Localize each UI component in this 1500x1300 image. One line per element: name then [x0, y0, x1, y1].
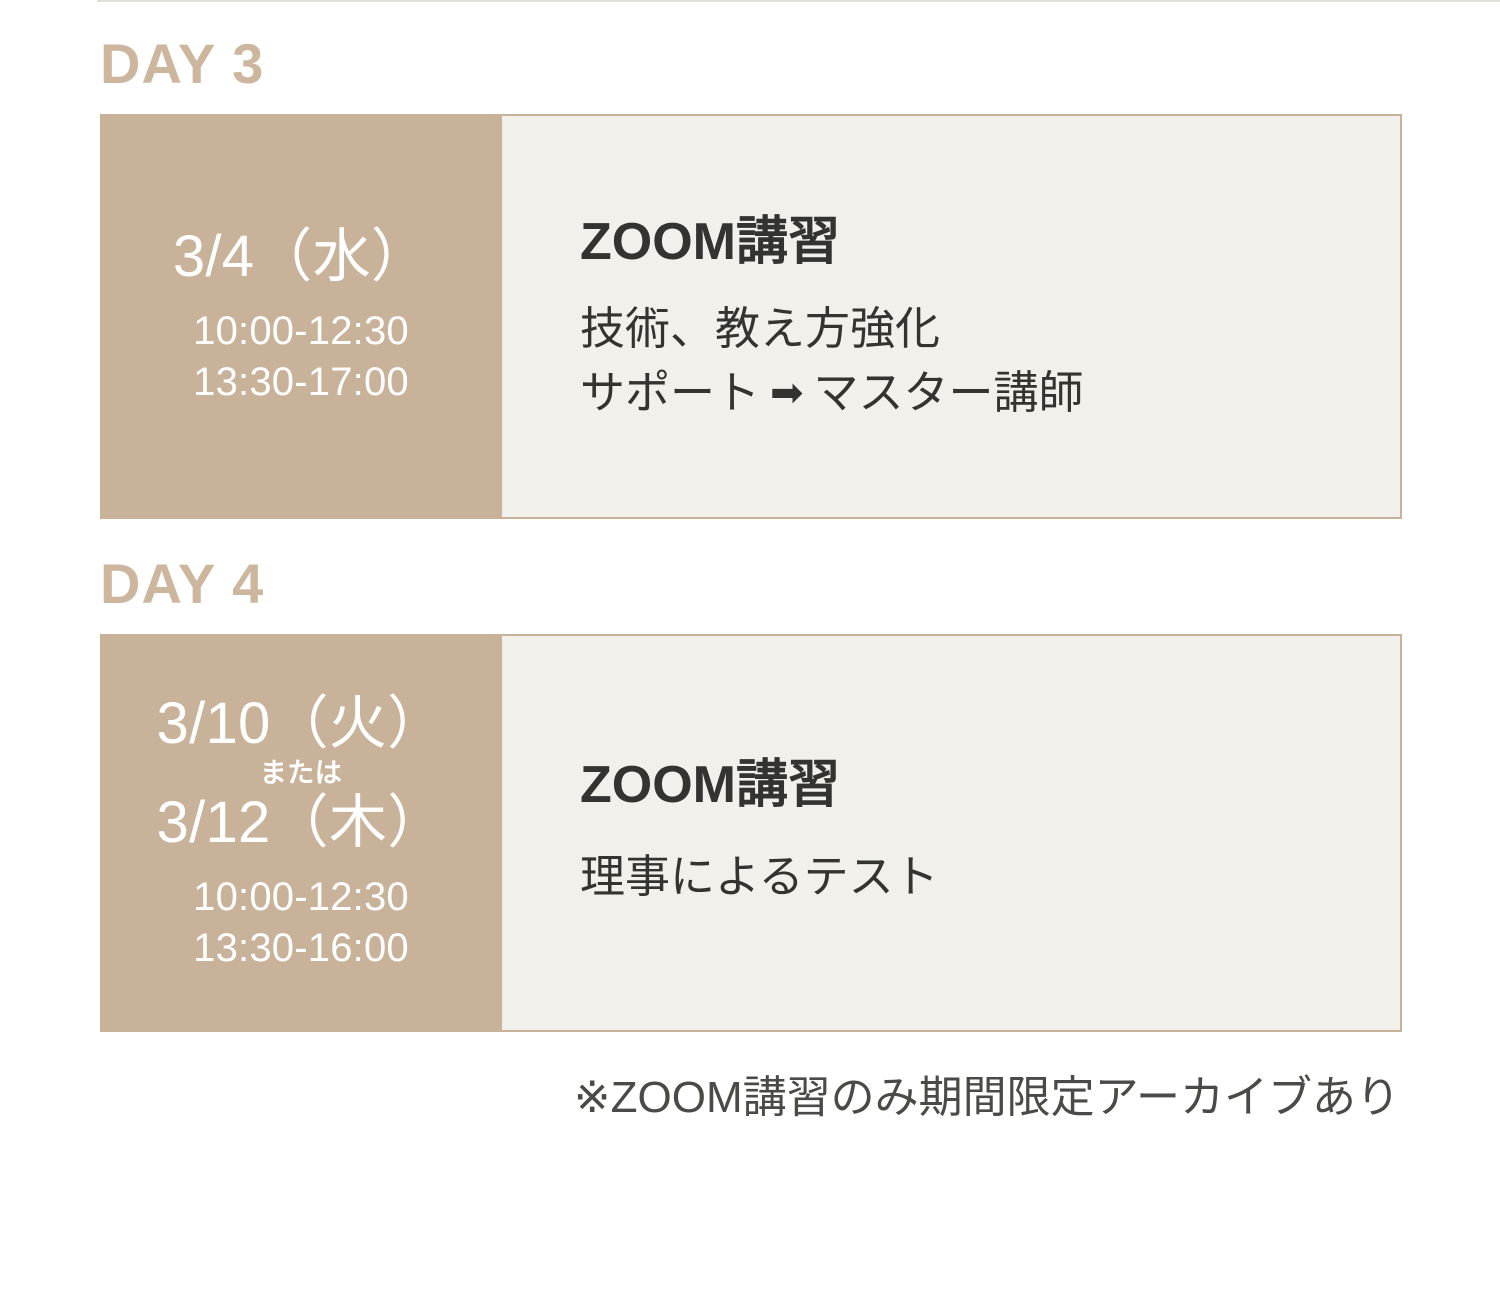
content-line-3-1: 技術、教え方強化 — [580, 297, 1400, 361]
content-line-3-2: サポート➡マスター講師 — [580, 361, 1400, 425]
content-line-3-1-text: 技術、教え方強化 — [580, 303, 940, 354]
date-time-4-1: 10:00-12:30 — [193, 872, 409, 923]
content-lines-3: 技術、教え方強化 サポート➡マスター講師 — [580, 297, 1400, 425]
content-lines-4: 理事によるテスト — [580, 845, 1400, 909]
content-line-3-2-after: マスター講師 — [814, 367, 1084, 418]
date-primary-4: 3/10（火） — [157, 692, 446, 757]
day-label-4: DAY 4 — [100, 556, 1402, 612]
day-row-4: 3/10（火） または 3/12（木） 10:00-12:30 13:30-16… — [100, 634, 1402, 1032]
content-line-4-1: 理事によるテスト — [580, 845, 1400, 909]
content-title-3: ZOOM講習 — [580, 214, 1400, 271]
date-time-4-2: 13:30-16:00 — [193, 923, 409, 974]
content-line-3-2-before: サポート — [580, 367, 760, 418]
date-cell-3: 3/4（水） 10:00-12:30 13:30-17:00 — [100, 114, 502, 519]
day-row-3: 3/4（水） 10:00-12:30 13:30-17:00 ZOOM講習 技術… — [100, 114, 1402, 519]
day-group-3: DAY 3 3/4（水） 10:00-12:30 13:30-17:00 ZOO… — [100, 36, 1402, 519]
date-times-3: 10:00-12:30 13:30-17:00 — [193, 306, 409, 408]
day-label-3: DAY 3 — [100, 36, 1402, 92]
date-secondary-4: 3/12（木） — [157, 791, 446, 856]
date-cell-4: 3/10（火） または 3/12（木） 10:00-12:30 13:30-16… — [100, 634, 502, 1032]
day-group-4: DAY 4 3/10（火） または 3/12（木） 10:00-12:30 13… — [100, 556, 1402, 1032]
date-times-4: 10:00-12:30 13:30-16:00 — [193, 872, 409, 974]
content-cell-3: ZOOM講習 技術、教え方強化 サポート➡マスター講師 — [502, 114, 1402, 519]
date-separator-4: または — [260, 759, 343, 789]
date-time-3-1: 10:00-12:30 — [193, 306, 409, 357]
content-line-4-1-text: 理事によるテスト — [580, 851, 939, 902]
arrow-right-icon: ➡ — [760, 373, 814, 413]
date-time-3-2: 13:30-17:00 — [193, 357, 409, 408]
content-cell-4: ZOOM講習 理事によるテスト — [502, 634, 1402, 1032]
archive-footnote: ※ZOOM講習のみ期間限定アーカイブあり — [0, 1072, 1402, 1125]
schedule-table: DAY 3 3/4（水） 10:00-12:30 13:30-17:00 ZOO… — [0, 0, 1500, 1300]
date-primary-3: 3/4（水） — [173, 225, 429, 290]
content-title-4: ZOOM講習 — [580, 757, 1400, 814]
